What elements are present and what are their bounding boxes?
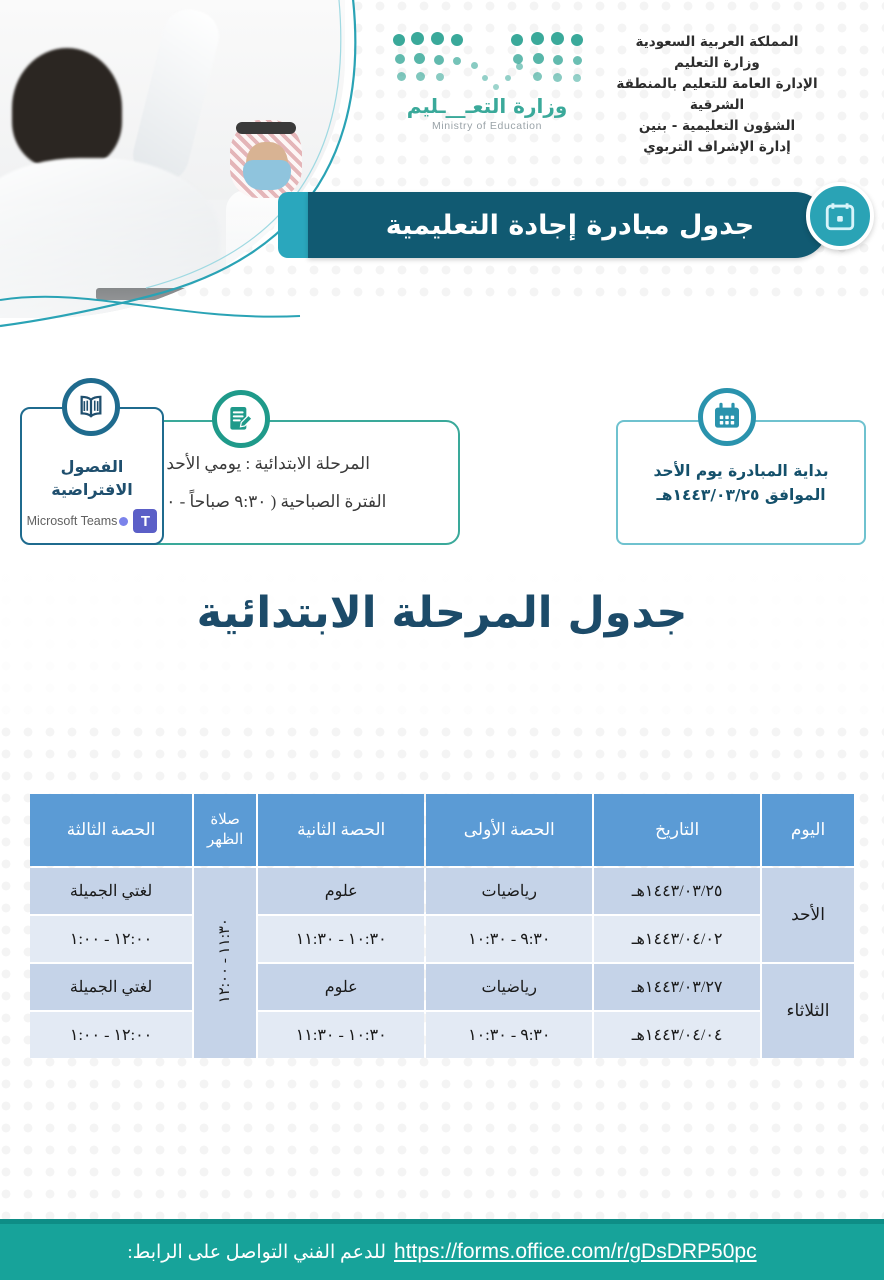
column-header-period2: الحصة الثانية (258, 794, 424, 866)
cell-period3-time: ١٢:٠٠ - ١:٠٠ (30, 916, 192, 962)
cell-period3-subject: لغتي الجميلة (30, 868, 192, 914)
ministry-line-1: المملكة العربية السعودية (592, 32, 842, 53)
footer-bar: https://forms.office.com/r/gDsDRP50pc لل… (0, 1224, 884, 1280)
column-header-period3: الحصة الثالثة (30, 794, 192, 866)
support-link[interactable]: https://forms.office.com/r/gDsDRP50pc (394, 1240, 757, 1264)
cell-date-2: ١٤٤٣/٠٤/٠٤هـ (594, 1012, 760, 1058)
cell-period1-time: ٩:٣٠ - ١٠:٣٠ (426, 916, 592, 962)
column-header-prayer: صلاة الظهر (194, 794, 256, 866)
cell-period3-time: ١٢:٠٠ - ١:٠٠ (30, 1012, 192, 1058)
calendar-icon (806, 182, 874, 250)
table-row: الثلاثاء ١٤٤٣/٠٣/٢٧هـ رياضيات علوم لغتي … (30, 964, 854, 1010)
column-header-day: اليوم (762, 794, 854, 866)
ministry-line-2: وزارة التعليم (592, 53, 842, 74)
ministry-logo-subtitle: Ministry of Education (382, 120, 592, 132)
banner-ribbon: جدول مبادرة إجادة التعليمية (308, 192, 828, 258)
microsoft-teams-logo: T Microsoft Teams (27, 509, 158, 533)
cell-period1-time: ٩:٣٠ - ١٠:٣٠ (426, 1012, 592, 1058)
prayer-time-text: ١١:٣٠ - ١٢:٠٠ (218, 918, 233, 1003)
cell-day: الأحد (762, 868, 854, 962)
teams-label: Microsoft Teams (27, 514, 118, 528)
page-title: جدول المرحلة الابتدائية (0, 588, 884, 638)
cell-date-1: ١٤٤٣/٠٣/٢٧هـ (594, 964, 760, 1010)
cell-period3-subject: لغتي الجميلة (30, 964, 192, 1010)
banner-title: جدول مبادرة إجادة التعليمية (342, 210, 828, 241)
ministry-logo-word: وزارة التعـ__ـليم (382, 94, 592, 118)
cell-period2-subject: علوم (258, 964, 424, 1010)
cell-period2-time: ١٠:٣٠ - ١١:٣٠ (258, 1012, 424, 1058)
info-cards: المرحلة الابتدائية : يومي الأحد / الثلاث… (0, 360, 884, 560)
teams-people-icon (119, 517, 128, 526)
ministry-line-5: إدارة الإشراف التربوي (592, 137, 842, 158)
ministry-line-3: الإدارة العامة للتعليم بالمنطقة الشرقية (592, 74, 842, 116)
schedule-table: اليوم التاريخ الحصة الأولى الحصة الثانية… (28, 792, 856, 1060)
column-header-period1: الحصة الأولى (426, 794, 592, 866)
table-row: ١٤٤٣/٠٤/٠٤هـ ٩:٣٠ - ١٠:٣٠ ١٠:٣٠ - ١١:٣٠ … (30, 1012, 854, 1058)
teams-mark: T (133, 509, 157, 533)
ministry-logo-dots (387, 30, 587, 92)
column-header-date: التاريخ (594, 794, 760, 866)
cell-date-1: ١٤٤٣/٠٣/٢٥هـ (594, 868, 760, 914)
platform-line-2: الافتراضية (51, 478, 133, 501)
cell-period1-subject: رياضيات (426, 868, 592, 914)
cell-day: الثلاثاء (762, 964, 854, 1058)
cell-period2-time: ١٠:٣٠ - ١١:٣٠ (258, 916, 424, 962)
table-row: ١٤٤٣/٠٤/٠٢هـ ٩:٣٠ - ١٠:٣٠ ١٠:٣٠ - ١١:٣٠ … (30, 916, 854, 962)
document-pencil-icon (212, 390, 270, 448)
schedule-table-container: اليوم التاريخ الحصة الأولى الحصة الثانية… (28, 792, 856, 1060)
page-header: وزارة التعـ__ـليم Ministry of Education … (0, 0, 884, 330)
cell-prayer-time: ١١:٣٠ - ١٢:٠٠ (194, 868, 256, 1058)
cell-period1-subject: رياضيات (426, 964, 592, 1010)
ministry-line-4: الشؤون التعليمية - بنين (592, 116, 842, 137)
platform-line-1: الفصول (61, 455, 124, 478)
ministry-address-block: المملكة العربية السعودية وزارة التعليم ا… (592, 32, 842, 158)
start-line-1: بداية المبادرة يوم الأحد (653, 459, 828, 483)
cell-period2-subject: علوم (258, 868, 424, 914)
support-label: للدعم الفني التواصل على الرابط: (127, 1241, 386, 1264)
cell-date-2: ١٤٤٣/٠٤/٠٢هـ (594, 916, 760, 962)
table-header-row: اليوم التاريخ الحصة الأولى الحصة الثانية… (30, 794, 854, 866)
calendar-icon (698, 388, 756, 446)
open-book-icon (62, 378, 120, 436)
ministry-logo: وزارة التعـ__ـليم Ministry of Education (382, 30, 592, 145)
table-row: الأحد ١٤٤٣/٠٣/٢٥هـ رياضيات علوم ١١:٣٠ - … (30, 868, 854, 914)
start-line-2: الموافق ١٤٤٣/٠٣/٢٥هـ (653, 483, 828, 507)
